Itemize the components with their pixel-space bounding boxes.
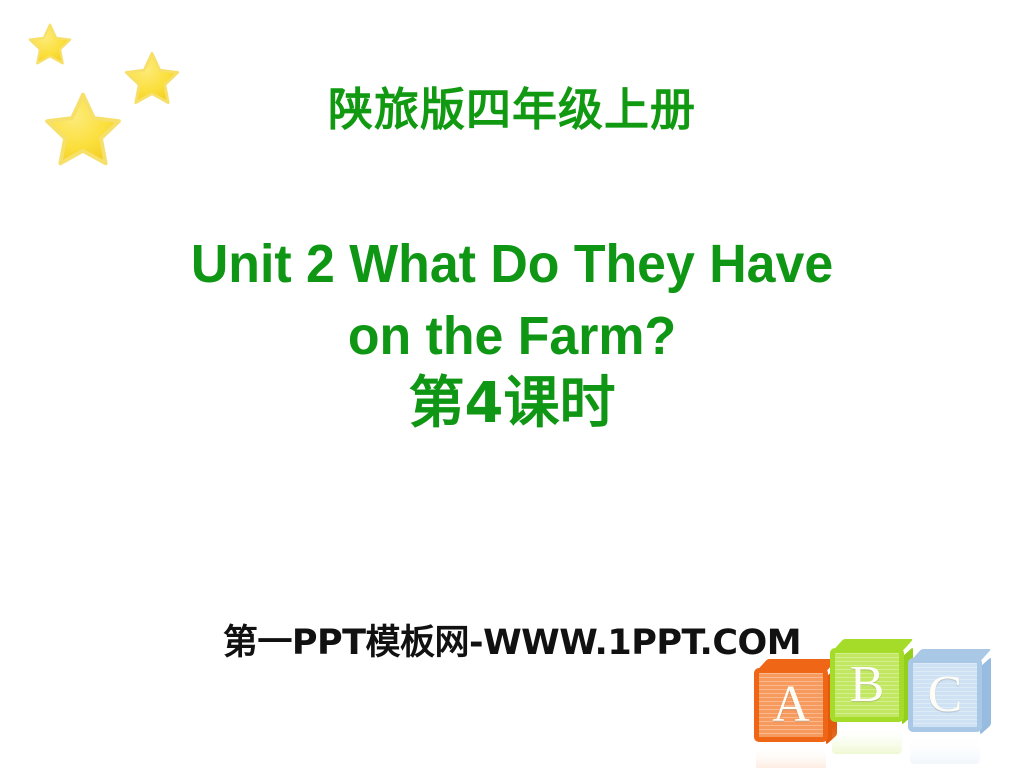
block-b: B (830, 648, 904, 722)
block-a-reflection (756, 744, 826, 768)
star-small-icon (28, 22, 72, 66)
block-b-front-face: B (830, 648, 904, 722)
lesson-number: 第4课时 (0, 370, 1024, 438)
block-a-letter: A (772, 679, 810, 731)
block-a: A (754, 668, 828, 742)
page-title: Unit 2 What Do They Have on the Farm? (78, 228, 946, 372)
block-c-reflection (910, 734, 980, 764)
page-title-line-2: on the Farm? (78, 300, 946, 372)
block-b-reflection (832, 724, 902, 754)
block-a-front-face: A (754, 668, 828, 742)
presentation-slide: 陕旅版四年级上册 Unit 2 What Do They Have on the… (0, 0, 1024, 768)
block-c-letter: C (928, 669, 963, 721)
block-c-front-face: C (908, 658, 982, 732)
block-b-letter: B (850, 659, 885, 711)
abc-blocks-decoration: A B C (752, 636, 1024, 768)
block-c: C (908, 658, 982, 732)
page-title-line-1: Unit 2 What Do They Have (78, 228, 946, 300)
edition-subtitle: 陕旅版四年级上册 (0, 82, 1024, 138)
